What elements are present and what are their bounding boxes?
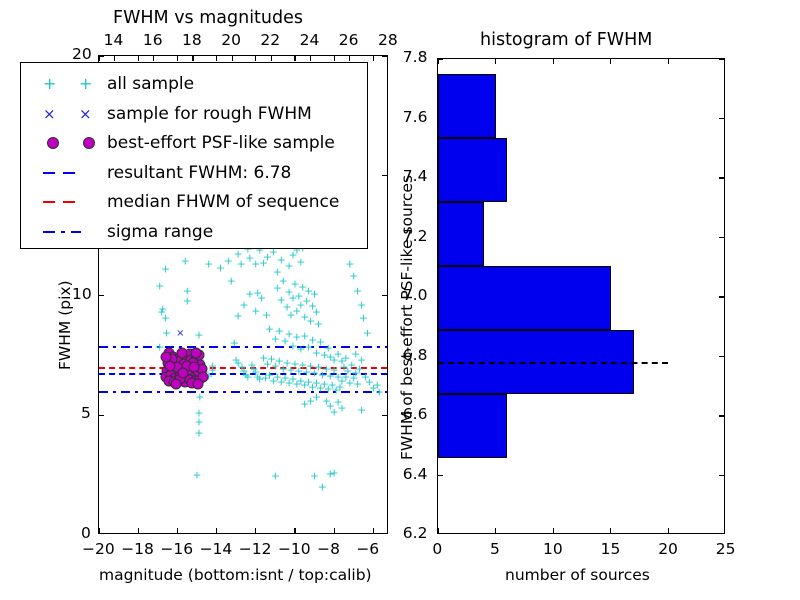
scatter-xticklabel: −10 [278,540,311,558]
legend-entry: ++all sample [21,69,367,99]
scatter-xtick [99,528,100,533]
scatter-point-all-sample: + [359,313,368,324]
legend: ++all sample××sample for rough FWHMbest-… [20,62,368,249]
scatter-top-xtick [271,56,272,61]
legend-label: sigma range [107,217,213,247]
histogram-yticklabel: 6.6 [403,405,428,423]
scatter-xtick [216,56,217,61]
histogram-yticklabel: 7.6 [403,108,428,126]
scatter-point-all-sample: + [363,327,372,338]
histogram-title: histogram of FWHM [480,30,652,50]
histogram-xtick [495,528,496,533]
histogram-ytick [719,356,724,357]
scatter-top-xticklabel: 24 [300,31,320,49]
scatter-point-psf-sample [171,379,182,390]
scatter-point-all-sample: + [271,471,280,482]
scatter-point-all-sample: + [284,260,293,271]
scatter-point-all-sample: + [161,264,170,275]
scatter-title: FWHM vs magnitudes [113,8,303,28]
scatter-point-all-sample: + [357,300,366,311]
scatter-top-xtick [192,56,193,61]
histogram-xtick [553,528,554,533]
histogram-xtick [438,59,439,64]
histogram-ytick [719,415,724,416]
scatter-top-xtick [153,56,154,61]
scatter-ytick [99,56,104,57]
scatter-point-all-sample: + [345,259,354,270]
scatter-point-all-sample: + [296,256,305,267]
scatter-xtick [99,56,100,61]
scatter-point-all-sample: + [204,259,213,270]
scatter-top-xticklabel: 16 [143,31,163,49]
histogram-xticklabel: 20 [658,540,678,558]
histogram-xtick [610,59,611,64]
legend-entry: sigma range [21,217,367,247]
scatter-point-all-sample: + [330,467,339,478]
scatter-point-all-sample: + [194,330,203,341]
scatter-point-all-sample: + [181,255,190,266]
scatter-xtick [255,56,256,61]
scatter-top-xticklabel: 28 [378,31,398,49]
figure-canvas: FWHM vs magnitudes +++++++++++++++++++++… [0,0,800,600]
histogram-bar [438,202,484,266]
scatter-point-all-sample: + [300,399,309,410]
legend-marker-circle-icon [47,137,59,149]
histogram-xtick [668,59,669,64]
legend-label: all sample [107,69,194,99]
histogram-ytick [719,118,724,119]
scatter-point-all-sample: + [227,276,236,287]
scatter-xtick [138,528,139,533]
legend-label: sample for rough FWHM [107,99,312,129]
scatter-xticklabel: −8 [317,540,340,558]
scatter-point-psf-sample [189,362,200,373]
scatter-point-rough-sample: × [176,329,184,339]
scatter-xticklabel: −18 [121,540,154,558]
legend-marker-plus-icon: + [79,69,92,99]
scatter-point-all-sample: + [262,309,271,320]
histogram-axes [437,58,725,534]
scatter-xtick [334,56,335,61]
histogram-yticklabel: 7.0 [403,286,428,304]
scatter-point-all-sample: + [357,405,366,416]
histogram-xticklabel: 15 [601,540,621,558]
scatter-xtick [373,528,374,533]
histogram-ytick [719,177,724,178]
scatter-xticklabel: −16 [160,540,193,558]
histogram-bar [438,266,611,330]
legend-marker-dashdot-line-icon [61,231,65,233]
scatter-point-psf-sample [177,347,188,358]
histogram-xtick [495,59,496,64]
scatter-point-all-sample: + [257,292,266,303]
legend-entry: resultant FWHM: 6.78 [21,158,367,188]
scatter-yticklabel: 10 [72,285,92,303]
scatter-xtick [373,56,374,61]
histogram-xticklabel: 25 [716,540,736,558]
scatter-top-xticklabel: 20 [221,31,241,49]
scatter-point-all-sample: + [349,271,358,282]
scatter-xticklabel: −20 [82,540,115,558]
legend-label: best-effort PSF-like sample [107,128,335,158]
histogram-bar [438,138,507,202]
scatter-top-xticklabel: 26 [339,31,359,49]
scatter-point-all-sample: + [162,327,171,338]
scatter-point-all-sample: + [318,482,327,493]
scatter-point-all-sample: + [161,313,170,324]
legend-label: median FHWM of sequence [107,187,339,217]
scatter-point-all-sample: + [194,428,203,439]
histogram-xticklabel: 5 [490,540,500,558]
histogram-yticklabel: 6.4 [403,465,428,483]
histogram-yticklabel: 7.2 [403,227,428,245]
scatter-point-all-sample: + [195,392,204,403]
histogram-refline-resultant-fwhm [438,362,668,364]
scatter-xtick [177,56,178,61]
histogram-plot-area [438,59,724,533]
scatter-point-all-sample: + [192,470,201,481]
legend-marker-dashed-line-icon [43,172,55,174]
scatter-ytick [382,415,387,416]
scatter-refline-sigma-upper [99,346,387,348]
legend-marker-cross-icon: × [79,99,92,129]
histogram-ytick [719,296,724,297]
scatter-point-all-sample: + [183,296,192,307]
histogram-yticklabel: 6.2 [403,524,428,542]
scatter-xlabel: magnitude (bottom:isnt / top:calib) [99,566,372,584]
scatter-xtick [294,528,295,533]
histogram-xtick [610,528,611,533]
scatter-xtick [177,528,178,533]
scatter-point-all-sample: + [312,307,321,318]
scatter-xtick [216,528,217,533]
legend-marker-cross-icon: × [43,99,56,129]
legend-marker-dashed-line-icon [63,201,75,203]
scatter-yticklabel: 5 [81,404,91,422]
scatter-yticklabel: 20 [72,45,92,63]
scatter-top-xtick [349,56,350,61]
scatter-top-xticklabel: 14 [104,31,124,49]
scatter-xticklabel: −6 [356,540,379,558]
histogram-xtick [553,59,554,64]
scatter-point-all-sample: + [224,255,233,266]
scatter-point-all-sample: + [357,355,366,366]
scatter-point-psf-sample [178,367,189,378]
legend-label: resultant FWHM: 6.78 [107,158,291,188]
legend-marker-dashdot-line-icon [71,231,81,233]
histogram-xticklabel: 0 [432,540,442,558]
scatter-point-all-sample: + [314,319,323,330]
histogram-ytick [719,59,724,60]
legend-marker-dashdot-line-icon [43,231,55,233]
histogram-yticklabel: 7.8 [403,48,428,66]
legend-marker-plus-icon: + [43,69,56,99]
scatter-point-all-sample: + [208,361,217,372]
legend-entry: ××sample for rough FWHM [21,99,367,129]
scatter-point-all-sample: + [230,338,239,349]
histogram-xtick [668,528,669,533]
scatter-xtick [334,528,335,533]
scatter-top-xticklabel: 18 [182,31,202,49]
scatter-top-xtick [232,56,233,61]
scatter-point-psf-sample [190,347,201,358]
histogram-bar [438,394,507,458]
scatter-ytick [99,415,104,416]
legend-marker-circle-icon [83,137,95,149]
histogram-ytick [438,59,443,60]
scatter-point-psf-sample [192,379,203,390]
legend-marker-dashed-line-icon [63,172,75,174]
scatter-point-all-sample: + [234,310,243,321]
scatter-top-xtick [114,56,115,61]
scatter-yticklabel: 0 [81,524,91,542]
scatter-ytick [382,56,387,57]
scatter-xtick [294,56,295,61]
histogram-xlabel: number of sources [505,566,650,584]
legend-marker-dashed-line-icon [43,201,55,203]
scatter-xticklabel: −12 [239,540,272,558]
histogram-bar [438,74,496,138]
scatter-point-all-sample: + [341,352,350,363]
histogram-xtick [438,528,439,533]
histogram-yticklabel: 6.8 [403,346,428,364]
scatter-point-all-sample: + [375,387,384,398]
histogram-ytick [719,237,724,238]
scatter-ytick [99,295,104,296]
scatter-point-all-sample: + [251,306,260,317]
scatter-ytick [382,295,387,296]
histogram-yticklabel: 7.4 [403,167,428,185]
scatter-point-all-sample: + [353,285,362,296]
legend-entry: median FHWM of sequence [21,187,367,217]
scatter-point-psf-sample [164,361,175,372]
scatter-top-xticklabel: 22 [260,31,280,49]
scatter-ytick [382,175,387,176]
scatter-point-all-sample: + [337,403,346,414]
histogram-xticklabel: 10 [543,540,563,558]
scatter-xtick [138,56,139,61]
scatter-top-xtick [310,56,311,61]
scatter-point-all-sample: + [155,280,164,291]
scatter-point-all-sample: + [245,289,254,300]
scatter-point-all-sample: + [239,300,248,311]
scatter-xticklabel: −14 [200,540,233,558]
scatter-point-all-sample: + [310,289,319,300]
legend-entry: best-effort PSF-like sample [21,128,367,158]
histogram-ytick [719,475,724,476]
scatter-xtick [255,528,256,533]
scatter-point-all-sample: + [236,259,245,270]
histogram-ytick [438,475,443,476]
